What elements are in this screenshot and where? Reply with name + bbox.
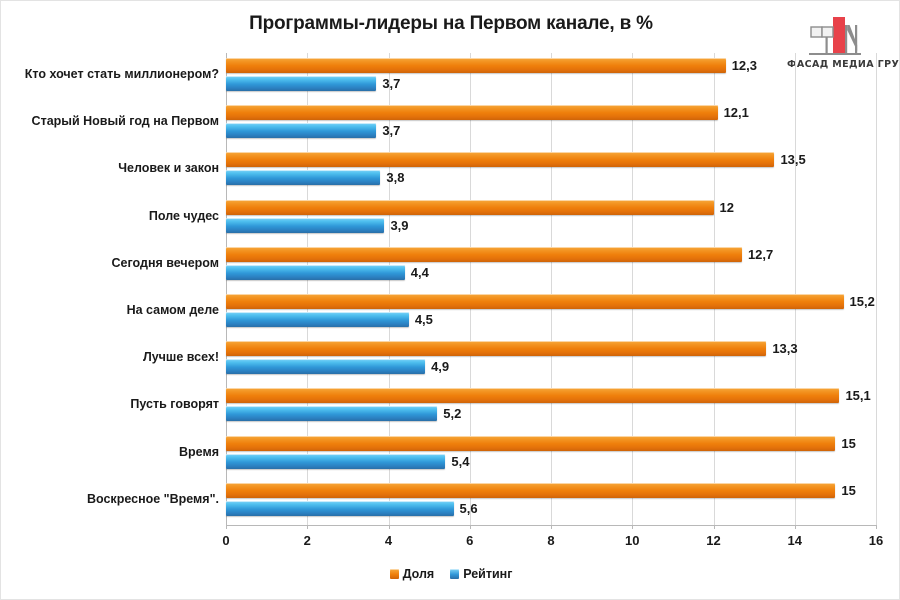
bar-value-label: 12 <box>720 200 734 215</box>
bar-value-label: 15,2 <box>850 294 875 309</box>
legend-swatch-icon <box>450 569 459 579</box>
bar-value-label: 12,7 <box>748 247 773 262</box>
axis-tick-mark <box>632 525 633 529</box>
bar-share[interactable] <box>226 152 774 167</box>
axis-tick-label: 12 <box>706 533 720 548</box>
bar-value-label: 3,8 <box>386 170 404 185</box>
bar-share[interactable] <box>226 294 844 309</box>
category-label: Старый Новый год на Первом <box>4 114 219 128</box>
bar-group: 13,53,8 <box>226 147 876 194</box>
legend-label: Доля <box>403 567 435 581</box>
axis-tick-mark <box>551 525 552 529</box>
category-label: Сегодня вечером <box>4 256 219 270</box>
chart-title: Программы-лидеры на Первом канале, в % <box>151 13 751 35</box>
bar-share[interactable] <box>226 200 714 215</box>
bar-value-label: 15,1 <box>845 388 870 403</box>
legend-item-rating[interactable]: Рейтинг <box>450 567 512 581</box>
bar-group: 12,74,4 <box>226 242 876 289</box>
bar-value-label: 4,5 <box>415 312 433 327</box>
bar-value-label: 5,4 <box>451 454 469 469</box>
category-label: Пусть говорят <box>4 397 219 411</box>
bar-value-label: 3,9 <box>390 218 408 233</box>
bar-rating[interactable] <box>226 170 380 185</box>
bar-share[interactable] <box>226 247 742 262</box>
bar-rating[interactable] <box>226 218 384 233</box>
chart-container: Программы-лидеры на Первом канале, в % Ф… <box>0 0 900 600</box>
axis-tick-mark <box>226 525 227 529</box>
value-axis: 0246810121416 <box>226 525 876 551</box>
axis-tick-mark <box>307 525 308 529</box>
bar-rating[interactable] <box>226 406 437 421</box>
legend-item-share[interactable]: Доля <box>390 567 435 581</box>
bar-value-label: 5,6 <box>460 501 478 516</box>
bar-value-label: 4,4 <box>411 265 429 280</box>
bar-rating[interactable] <box>226 359 425 374</box>
bar-value-label: 15 <box>841 483 855 498</box>
category-label: Поле чудес <box>4 209 219 223</box>
legend: ДоляРейтинг <box>1 567 900 581</box>
axis-tick-mark <box>714 525 715 529</box>
bar-share[interactable] <box>226 436 835 451</box>
gridline <box>876 53 877 525</box>
legend-label: Рейтинг <box>463 567 512 581</box>
category-label: Кто хочет стать миллионером? <box>4 67 219 81</box>
bar-group: 15,15,2 <box>226 383 876 430</box>
axis-tick-label: 14 <box>788 533 802 548</box>
axis-tick-label: 6 <box>466 533 473 548</box>
bar-value-label: 13,3 <box>772 341 797 356</box>
category-label: Человек и закон <box>4 161 219 175</box>
category-label: На самом деле <box>4 303 219 317</box>
bar-share[interactable] <box>226 58 726 73</box>
bar-group: 155,6 <box>226 478 876 525</box>
bar-group: 15,24,5 <box>226 289 876 336</box>
axis-tick-label: 8 <box>547 533 554 548</box>
bar-share[interactable] <box>226 341 766 356</box>
category-label: Воскресное "Время". <box>4 492 219 506</box>
bar-rating[interactable] <box>226 265 405 280</box>
axis-tick-mark <box>795 525 796 529</box>
bar-share[interactable] <box>226 483 835 498</box>
bar-value-label: 3,7 <box>382 123 400 138</box>
axis-tick-mark <box>876 525 877 529</box>
category-label: Лучше всех! <box>4 350 219 364</box>
bar-rating[interactable] <box>226 76 376 91</box>
axis-tick-label: 4 <box>385 533 392 548</box>
axis-tick-label: 10 <box>625 533 639 548</box>
bar-value-label: 4,9 <box>431 359 449 374</box>
bar-value-label: 13,5 <box>780 152 805 167</box>
axis-tick-label: 0 <box>222 533 229 548</box>
category-axis-labels: Кто хочет стать миллионером?Старый Новый… <box>1 53 219 525</box>
axis-tick-mark <box>389 525 390 529</box>
axis-tick-mark <box>470 525 471 529</box>
bar-share[interactable] <box>226 388 839 403</box>
plot-area: 12,33,712,13,713,53,8123,912,74,415,24,5… <box>226 53 876 525</box>
bar-rating[interactable] <box>226 123 376 138</box>
category-label: Время <box>4 445 219 459</box>
axis-tick-label: 16 <box>869 533 883 548</box>
bar-value-label: 12,3 <box>732 58 757 73</box>
bar-rating[interactable] <box>226 312 409 327</box>
bar-group: 123,9 <box>226 195 876 242</box>
bar-group: 13,34,9 <box>226 336 876 383</box>
legend-swatch-icon <box>390 569 399 579</box>
bar-rating[interactable] <box>226 454 445 469</box>
axis-tick-label: 2 <box>304 533 311 548</box>
bar-group: 12,13,7 <box>226 100 876 147</box>
bar-value-label: 5,2 <box>443 406 461 421</box>
bar-share[interactable] <box>226 105 718 120</box>
bar-value-label: 3,7 <box>382 76 400 91</box>
bar-rating[interactable] <box>226 501 454 516</box>
bar-value-label: 15 <box>841 436 855 451</box>
bar-value-label: 12,1 <box>724 105 749 120</box>
bar-group: 12,33,7 <box>226 53 876 100</box>
bar-group: 155,4 <box>226 431 876 478</box>
